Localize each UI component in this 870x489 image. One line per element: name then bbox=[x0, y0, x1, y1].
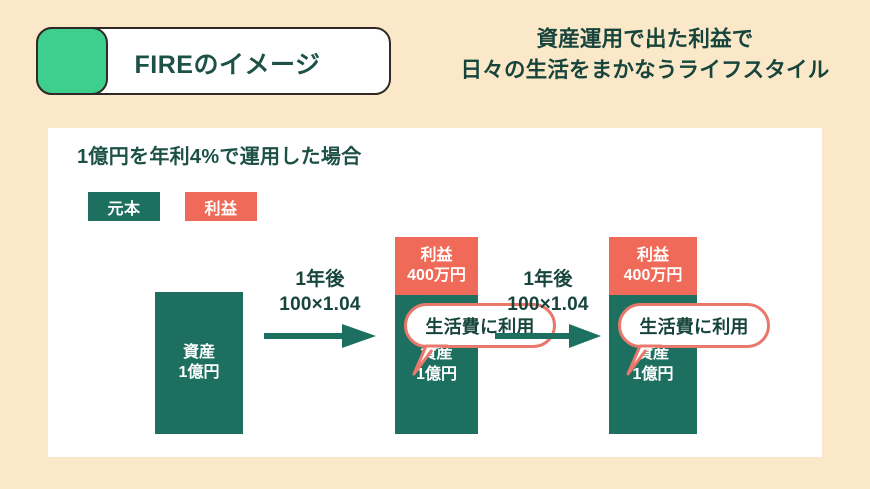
bar-label-profit-line-2: 400万円 bbox=[624, 266, 683, 286]
header-subtitle: 資産運用で出た利益で 日々の生活をまかなうライフスタイル bbox=[430, 24, 860, 85]
header-subtitle-line-2: 日々の生活をまかなうライフスタイル bbox=[430, 55, 860, 86]
arrow-caption-line-1: 1年後 bbox=[486, 268, 610, 293]
green-square-badge-icon bbox=[36, 27, 108, 95]
callout-tail-icon bbox=[412, 343, 452, 377]
legend-label-principal: 元本 bbox=[107, 195, 140, 219]
right-arrow-icon bbox=[264, 323, 376, 349]
arrow-caption-line-2: 100×1.04 bbox=[255, 293, 385, 318]
callout-label: 生活費に利用 bbox=[639, 313, 748, 339]
arrow-group-year-1: 1年後 100×1.04 bbox=[255, 268, 385, 349]
legend-item-principal: 元本 bbox=[88, 192, 160, 221]
header-subtitle-line-1: 資産運用で出た利益で bbox=[430, 24, 860, 55]
callout-tail-icon bbox=[626, 343, 666, 377]
arrow-caption-line-1: 1年後 bbox=[255, 268, 385, 293]
bar-label-principal-line-2: 1億円 bbox=[179, 363, 220, 383]
arrow-caption-line-2: 100×1.04 bbox=[486, 293, 610, 318]
callout-year-2: 生活費に利用 bbox=[618, 303, 770, 348]
bar-year-0: 資産 1億円 bbox=[155, 292, 243, 434]
bar-segment-principal: 資産 1億円 bbox=[155, 292, 243, 434]
callout-body: 生活費に利用 bbox=[618, 303, 770, 348]
arrow-group-year-2: 1年後 100×1.04 bbox=[486, 268, 610, 349]
bar-label-profit-line-2: 400万円 bbox=[407, 266, 466, 286]
bar-segment-profit: 利益 400万円 bbox=[609, 237, 697, 295]
legend-label-profit: 利益 bbox=[204, 195, 237, 219]
legend-item-profit: 利益 bbox=[185, 192, 257, 221]
right-arrow-icon bbox=[495, 323, 601, 349]
bar-segment-profit: 利益 400万円 bbox=[395, 237, 478, 295]
page-title: FIREのイメージ bbox=[100, 45, 355, 81]
bar-label-profit-line-1: 利益 bbox=[420, 246, 452, 266]
bar-label-principal-line-1: 資産 bbox=[183, 343, 215, 363]
bar-label-profit-line-1: 利益 bbox=[637, 246, 669, 266]
header: FIREのイメージ 資産運用で出た利益で 日々の生活をまかなうライフスタイル bbox=[0, 0, 870, 120]
chart-title: 1億円を年利4%で運用した場合 bbox=[77, 140, 362, 169]
chart-card: 1億円を年利4%で運用した場合 元本 利益 資産 1億円 1年後 100×1.0… bbox=[48, 128, 822, 457]
